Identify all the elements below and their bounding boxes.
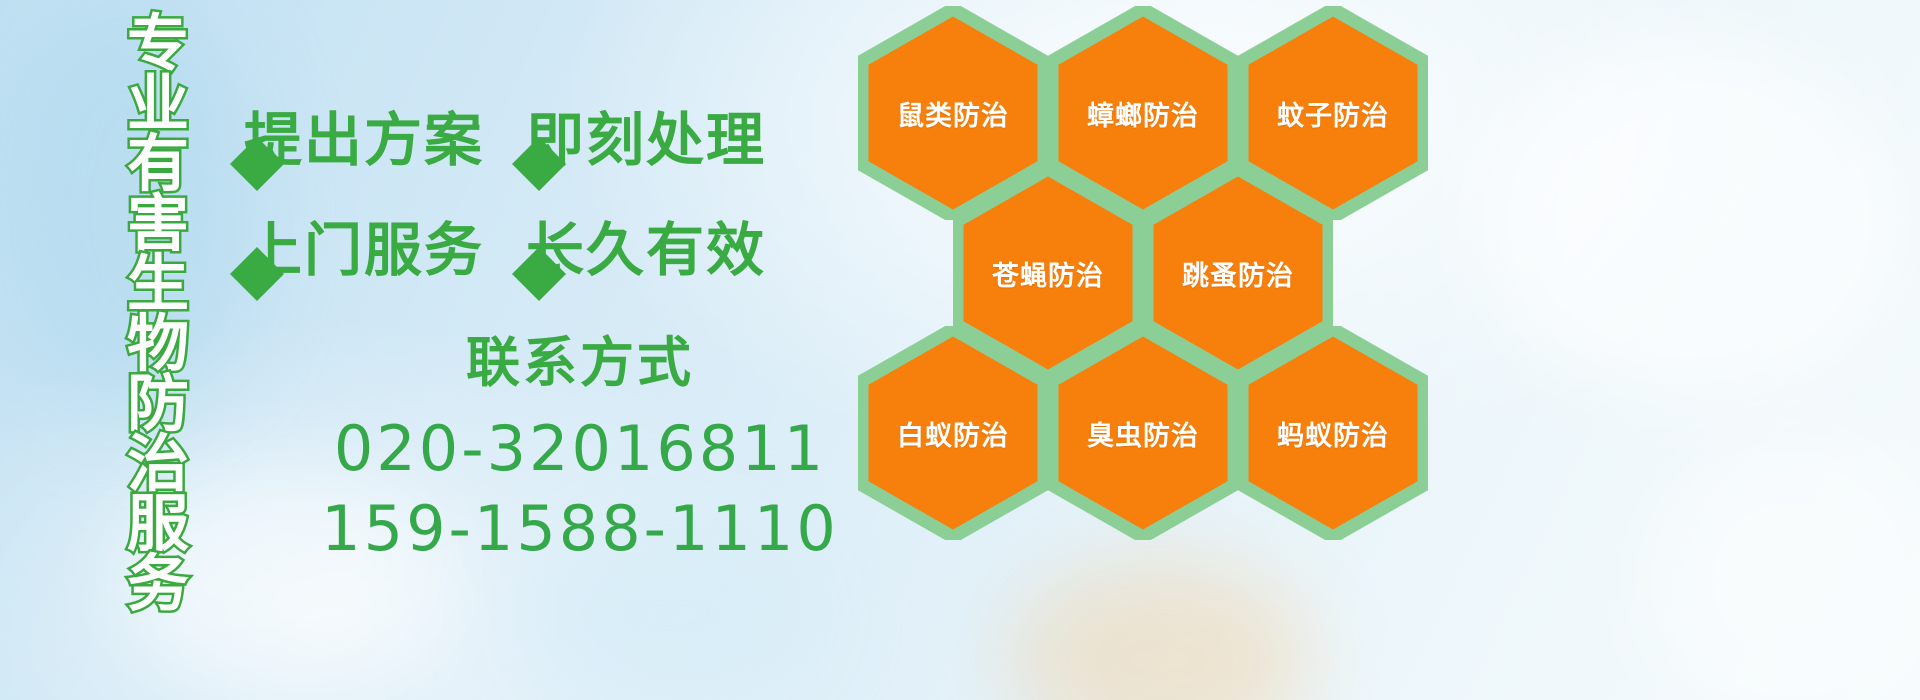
contact-phone-mobile[interactable]: 159-1588-1110 (300, 489, 860, 569)
feature-item: 即刻处理 (510, 93, 766, 177)
service-label: 臭虫防治 (1048, 326, 1238, 540)
feature-label: 长久有效 (526, 203, 766, 287)
headline-char: 防 (127, 374, 189, 434)
feature-row: 上门服务 长久有效 (228, 190, 766, 300)
service-honeycomb: 鼠类防治 蟑螂防治 蚊子防治 苍蝇防治 跳蚤防治 (858, 0, 1458, 560)
feature-label: 上门服务 (244, 203, 484, 287)
headline-char: 专 (127, 14, 189, 74)
headline-char: 治 (127, 434, 189, 494)
contact-title: 联系方式 (300, 318, 860, 397)
promo-banner: 专 业 有 害 生 物 防 治 服 务 提出方案 即刻处理 (0, 0, 1920, 700)
feature-item: 上门服务 (228, 203, 484, 287)
service-hexagon-bedbug[interactable]: 臭虫防治 (1048, 326, 1238, 540)
feature-row: 提出方案 即刻处理 (228, 80, 766, 190)
headline-char: 有 (127, 134, 189, 194)
vertical-headline: 专 业 有 害 生 物 防 治 服 务 (106, 14, 210, 574)
contact-phone-landline[interactable]: 020-32016811 (300, 409, 860, 489)
service-hexagon-ant[interactable]: 蚂蚁防治 (1238, 326, 1428, 540)
feature-list: 提出方案 即刻处理 上门服务 长久有效 (228, 80, 766, 300)
service-hexagon-termite[interactable]: 白蚁防治 (858, 326, 1048, 540)
headline-char: 物 (127, 314, 189, 374)
contact-block: 联系方式 020-32016811 159-1588-1110 (300, 318, 860, 569)
feature-label: 即刻处理 (526, 93, 766, 177)
service-label: 白蚁防治 (858, 326, 1048, 540)
headline-char: 业 (127, 74, 189, 134)
service-label: 蚂蚁防治 (1238, 326, 1428, 540)
feature-item: 长久有效 (510, 203, 766, 287)
headline-char: 务 (127, 554, 189, 614)
headline-char: 服 (127, 494, 189, 554)
feature-label: 提出方案 (244, 93, 484, 177)
headline-char: 生 (127, 254, 189, 314)
background-blur-blob (1010, 560, 1310, 700)
feature-item: 提出方案 (228, 93, 484, 177)
background-blur-blob (1480, 40, 1900, 400)
headline-char: 害 (127, 194, 189, 254)
background-blur-blob (1640, 430, 1920, 700)
